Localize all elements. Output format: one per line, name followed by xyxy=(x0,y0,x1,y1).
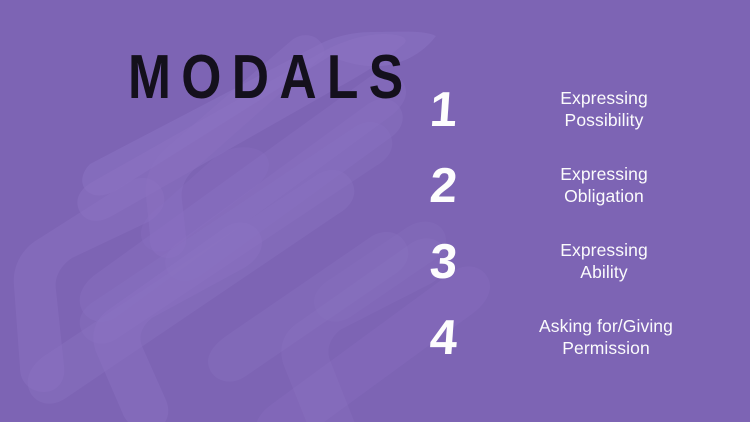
numbered-list: 1 Expressing Possibility 2 Expressing Ob… xyxy=(430,72,730,376)
list-item-number: 4 xyxy=(428,314,477,363)
list-item-number: 2 xyxy=(428,162,477,211)
list-item-label: Expressing Ability xyxy=(476,240,730,283)
list-item-label: Asking for/Giving Permission xyxy=(476,316,730,359)
list-item-number: 1 xyxy=(428,86,477,135)
list-item: 2 Expressing Obligation xyxy=(430,148,730,224)
list-item: 3 Expressing Ability xyxy=(430,224,730,300)
page-title: MODALS xyxy=(128,46,414,108)
list-item: 4 Asking for/Giving Permission xyxy=(430,300,730,376)
list-item: 1 Expressing Possibility xyxy=(430,72,730,148)
list-item-label: Expressing Possibility xyxy=(476,88,730,131)
list-item-label: Expressing Obligation xyxy=(476,164,730,207)
list-item-number: 3 xyxy=(428,238,477,287)
slide-canvas: MODALS 1 Expressing Possibility 2 Expres… xyxy=(0,0,750,422)
